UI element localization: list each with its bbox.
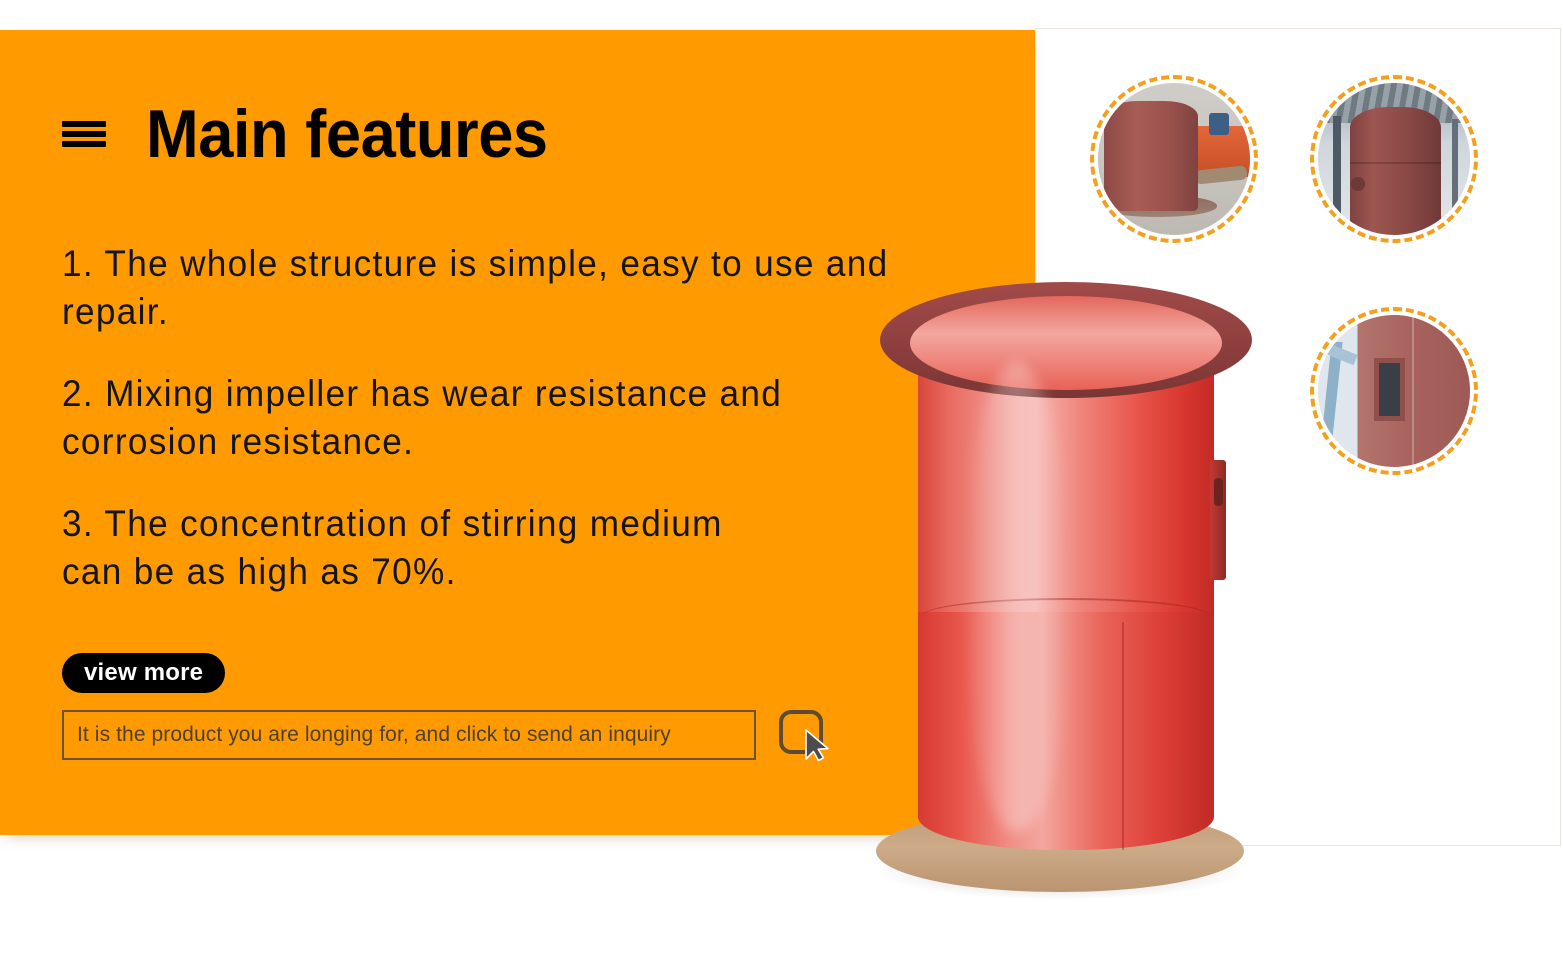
thumb2-column-right <box>1452 119 1458 225</box>
click-cursor-icon[interactable] <box>778 708 830 762</box>
inquiry-message: It is the product you are longing for, a… <box>77 723 671 747</box>
thumb1-motor <box>1209 113 1229 134</box>
gallery-thumbnail-2[interactable] <box>1318 83 1470 235</box>
slide-canvas: Main features 1. The whole structure is … <box>0 0 1563 960</box>
thumb2-nozzle <box>1351 177 1365 191</box>
product-image <box>866 282 1256 902</box>
hamburger-bar-2 <box>62 131 106 137</box>
product-top-opening <box>910 296 1222 390</box>
panel-header: Main features <box>62 96 578 172</box>
product-specular-highlight <box>962 362 1072 832</box>
thumb1-tank <box>1104 101 1198 210</box>
gallery-thumbnail-1[interactable] <box>1098 83 1250 235</box>
hamburger-bar-3 <box>62 141 106 147</box>
product-vertical-seam <box>1122 622 1124 850</box>
page-title: Main features <box>146 100 548 168</box>
thumb2-tank-band <box>1350 162 1441 164</box>
feature-item-1: 1. The whole structure is simple, easy t… <box>62 240 898 336</box>
hamburger-menu-icon[interactable] <box>62 121 106 147</box>
inquiry-row: It is the product you are longing for, a… <box>62 708 830 762</box>
thumb2-tank <box>1350 107 1441 235</box>
inquiry-input[interactable]: It is the product you are longing for, a… <box>62 710 756 760</box>
view-more-button[interactable]: view more <box>62 653 225 693</box>
thumb3-tank-seam <box>1412 315 1414 467</box>
feature-list: 1. The whole structure is simple, easy t… <box>62 240 942 596</box>
hamburger-bar-1 <box>62 121 106 127</box>
feature-item-3: 3. The concentration of stirring medium … <box>62 500 784 596</box>
product-handle-opening <box>1214 478 1223 506</box>
thumb2-column-left <box>1333 116 1341 225</box>
gallery-thumbnail-3[interactable] <box>1318 315 1470 467</box>
feature-item-2: 2. Mixing impeller has wear resistance a… <box>62 370 898 466</box>
thumb3-inspection-window <box>1374 358 1404 422</box>
